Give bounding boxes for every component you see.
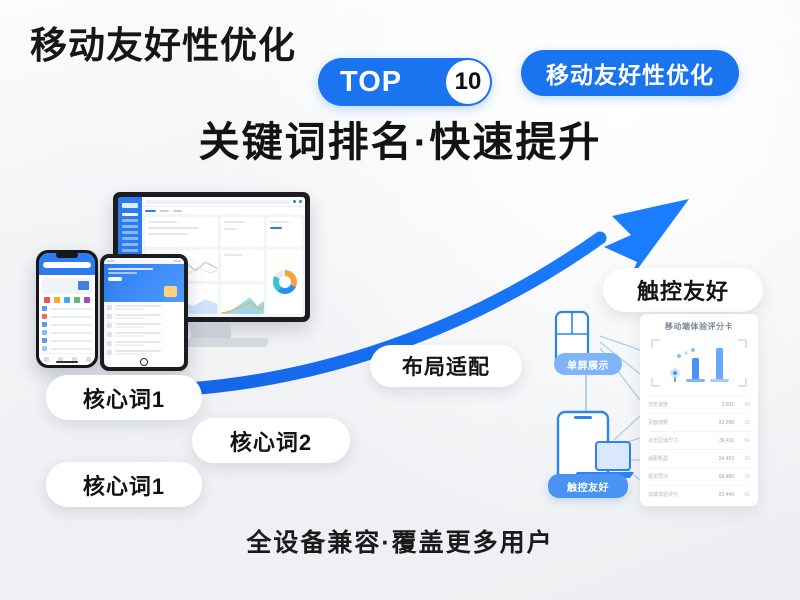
quick-icon: [84, 297, 90, 303]
row-delta: 64: [734, 438, 750, 444]
table-row: 页面流畅 32,298 15: [648, 413, 750, 431]
list-item: [42, 322, 92, 327]
row-delta: 60: [734, 456, 750, 462]
list-item-icon: [107, 314, 112, 319]
dashboard-tab: [173, 210, 182, 212]
list-item-icon: [107, 341, 112, 346]
poster-canvas: 移动友好性优化 TOP 10 移动友好性优化 关键词排名·快速提升: [0, 0, 800, 600]
table-row: 加载体验评分 22,449 41: [648, 485, 750, 503]
diagram-pill-bottom: 触控友好: [548, 474, 628, 498]
list-item-icon: [42, 306, 47, 311]
dashboard-nav-item: [122, 231, 138, 234]
row-delta: 98: [734, 402, 750, 408]
tablet-list: [104, 302, 184, 362]
row-delta: 15: [734, 420, 750, 426]
quick-icon: [54, 297, 60, 303]
dashboard-area-card: [221, 284, 265, 314]
row-value: 36,411: [708, 438, 734, 444]
feature-pill-touch: 触控友好: [603, 268, 763, 312]
top-badge-word: TOP: [340, 68, 402, 97]
tablet-hero-banner: [104, 264, 184, 302]
list-item: [107, 332, 181, 337]
list-item-icon: [107, 305, 112, 310]
dashboard-bell-icon: [299, 200, 302, 203]
dashboard-nav-item: [122, 225, 138, 228]
list-item-icon: [107, 323, 112, 328]
row-value: 59,486: [708, 474, 734, 480]
list-item-icon: [42, 322, 47, 327]
table-row: 适配机型 24,459 60: [648, 449, 750, 467]
table-row: 浏览速度 2,601 98: [648, 395, 750, 413]
footer-tagline: 全设备兼容·覆盖更多用户: [0, 531, 800, 556]
row-value: 32,298: [708, 420, 734, 426]
list-item: [107, 314, 181, 319]
tablet-status-left: [107, 260, 115, 262]
dashboard-nav-item: [122, 249, 138, 252]
list-item: [42, 346, 92, 351]
page-title: 移动友好性优化: [30, 27, 296, 64]
device-mockups: [28, 192, 348, 397]
dashboard-nav-item: [122, 213, 138, 216]
quick-icon: [64, 297, 70, 303]
list-item: [107, 323, 181, 328]
tablet-hero-illustration: [164, 286, 177, 297]
phone-screen: [39, 253, 95, 365]
phone-tabbar: [39, 353, 95, 365]
list-item-icon: [107, 350, 112, 355]
dashboard-logo-icon: [122, 203, 138, 208]
phone-notch: [56, 252, 78, 258]
table-row: 视觉层次 59,486 18: [648, 467, 750, 485]
dashboard-nav-item: [122, 243, 138, 246]
tabbar-icon: [44, 357, 49, 362]
list-item: [42, 338, 92, 343]
row-value: 22,449: [708, 492, 734, 498]
dashboard-avatar: [293, 200, 296, 203]
tablet-home-button: [140, 358, 148, 366]
dashboard-card: [221, 217, 265, 247]
phone-banner-thumb: [78, 281, 89, 290]
top-badge-number: 10: [446, 60, 490, 104]
row-delta: 41: [734, 492, 750, 498]
row-name: 视觉层次: [648, 473, 708, 480]
tablet-hero-button: [108, 277, 122, 281]
list-item-icon: [42, 338, 47, 343]
list-item: [42, 314, 92, 319]
dashboard-nav-item: [122, 237, 138, 240]
tablet-device: [100, 254, 188, 371]
keyword-pill-3: 核心词1: [46, 462, 202, 507]
dashboard-tab: [145, 210, 156, 212]
row-delta: 18: [734, 474, 750, 480]
list-item: [107, 305, 181, 310]
touch-friendly-illustration: 单屏展示 触控友好 移动端体验评分卡: [528, 308, 786, 508]
row-value: 24,459: [708, 456, 734, 462]
dashboard-tab: [160, 210, 169, 212]
row-name: 适配机型: [648, 455, 708, 462]
dashboard-card: [145, 217, 218, 247]
table-row: 点击区域尺寸 36,411 64: [648, 431, 750, 449]
row-name: 浏览速度: [648, 401, 708, 408]
dashboard-nav-item: [122, 219, 138, 222]
dashboard-topbar: [142, 197, 305, 206]
monitor-stand-neck: [191, 322, 231, 338]
dashboard-tabs: [142, 206, 305, 214]
dashboard-card: [267, 217, 302, 247]
list-item: [107, 341, 181, 346]
diagram-pill-top: 单屏展示: [554, 353, 622, 375]
score-card: 移动端体验评分卡: [640, 314, 758, 506]
phone-home-indicator: [56, 361, 78, 363]
dashboard-donut-card: [267, 250, 302, 314]
phone-search-input: [43, 262, 91, 268]
phone-list: [39, 306, 95, 351]
tablet-screen: [104, 258, 184, 367]
row-name: 页面流畅: [648, 419, 708, 426]
quick-icon: [74, 297, 80, 303]
phone-quick-icons: [39, 297, 95, 306]
dashboard-card: [221, 250, 265, 280]
list-item: [42, 306, 92, 311]
list-item: [107, 350, 181, 355]
tabbar-icon: [86, 357, 91, 362]
tablet-status-right: [173, 260, 181, 262]
keyword-pill-1: 核心词1: [46, 375, 202, 420]
page-subtitle: 关键词排名·快速提升: [0, 122, 800, 163]
dashboard-search-input: [145, 200, 290, 204]
list-item-icon: [42, 314, 47, 319]
list-item-icon: [42, 346, 47, 351]
donut-chart: [273, 270, 297, 294]
row-name: 点击区域尺寸: [648, 437, 708, 444]
phone-device: [36, 250, 98, 368]
row-value: 2,601: [708, 402, 734, 408]
score-card-chart: [648, 336, 750, 390]
list-item-icon: [42, 330, 47, 335]
phone-banner: [42, 278, 92, 294]
list-item: [42, 330, 92, 335]
quick-icon: [44, 297, 50, 303]
feature-pill-layout: 布局适配: [370, 345, 522, 387]
row-name: 加载体验评分: [648, 491, 708, 498]
score-card-title: 移动端体验评分卡: [648, 321, 750, 332]
top10-badge: TOP 10: [318, 58, 492, 106]
header-blue-tag: 移动友好性优化: [521, 50, 739, 96]
list-item-icon: [107, 332, 112, 337]
keyword-pill-2: 核心词2: [192, 418, 350, 463]
